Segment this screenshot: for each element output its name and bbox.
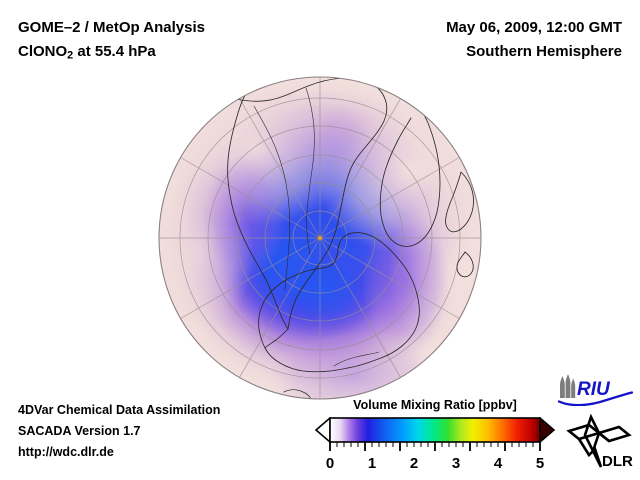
colorbar-tick-label: 3: [452, 455, 460, 472]
globe-map: [158, 76, 482, 400]
riu-spires-icon: [560, 374, 575, 398]
pressure-level-text: at 55.4 hPa: [73, 43, 156, 60]
colorbar-tick-label: 5: [536, 455, 544, 472]
colorbar-over-arrow: [540, 418, 554, 442]
colorbar-tick-label: 2: [410, 455, 418, 472]
riu-wordmark: RIU: [577, 379, 611, 400]
website-url[interactable]: http://wdc.dlr.de: [18, 442, 220, 463]
colorbar-block: Volume Mixing Ratio [ppbv]: [310, 398, 560, 479]
colorbar-title: Volume Mixing Ratio [ppbv]: [310, 398, 560, 412]
species-name: ClONO: [18, 43, 67, 60]
coastline-new-zealand: [202, 379, 233, 391]
version-label: SACADA Version 1.7: [18, 421, 220, 442]
dlr-logo: DLR: [566, 414, 636, 472]
header-left: GOME–2 / MetOp Analysis ClONO2 at 55.4 h…: [18, 16, 205, 68]
analysis-title: GOME–2 / MetOp Analysis: [18, 16, 205, 40]
dlr-wordmark: DLR: [602, 453, 633, 470]
method-label: 4DVar Chemical Data Assimilation: [18, 400, 220, 421]
colorbar-tick-label: 1: [368, 455, 376, 472]
violet-tongue-west: [202, 154, 286, 278]
riu-logo: RIU: [556, 374, 634, 406]
footer-info: 4DVar Chemical Data Assimilation SACADA …: [18, 400, 220, 463]
colorbar-tick-label: 0: [326, 455, 334, 472]
colorbar-gradient: [330, 418, 540, 442]
colorbar-tick-label: 4: [494, 455, 503, 472]
south-pole-marker: [318, 236, 322, 240]
datetime-label: May 06, 2009, 12:00 GMT: [446, 16, 622, 40]
colorbar-tick-labels: 0 1 2 3 4 5: [326, 455, 544, 472]
colorbar-major-ticks: [330, 442, 540, 451]
species-level-title: ClONO2 at 55.4 hPa: [18, 40, 205, 68]
hemisphere-label: Southern Hemisphere: [446, 40, 622, 64]
colorbar-under-arrow: [316, 418, 330, 442]
header-right: May 06, 2009, 12:00 GMT Southern Hemisph…: [446, 16, 622, 64]
